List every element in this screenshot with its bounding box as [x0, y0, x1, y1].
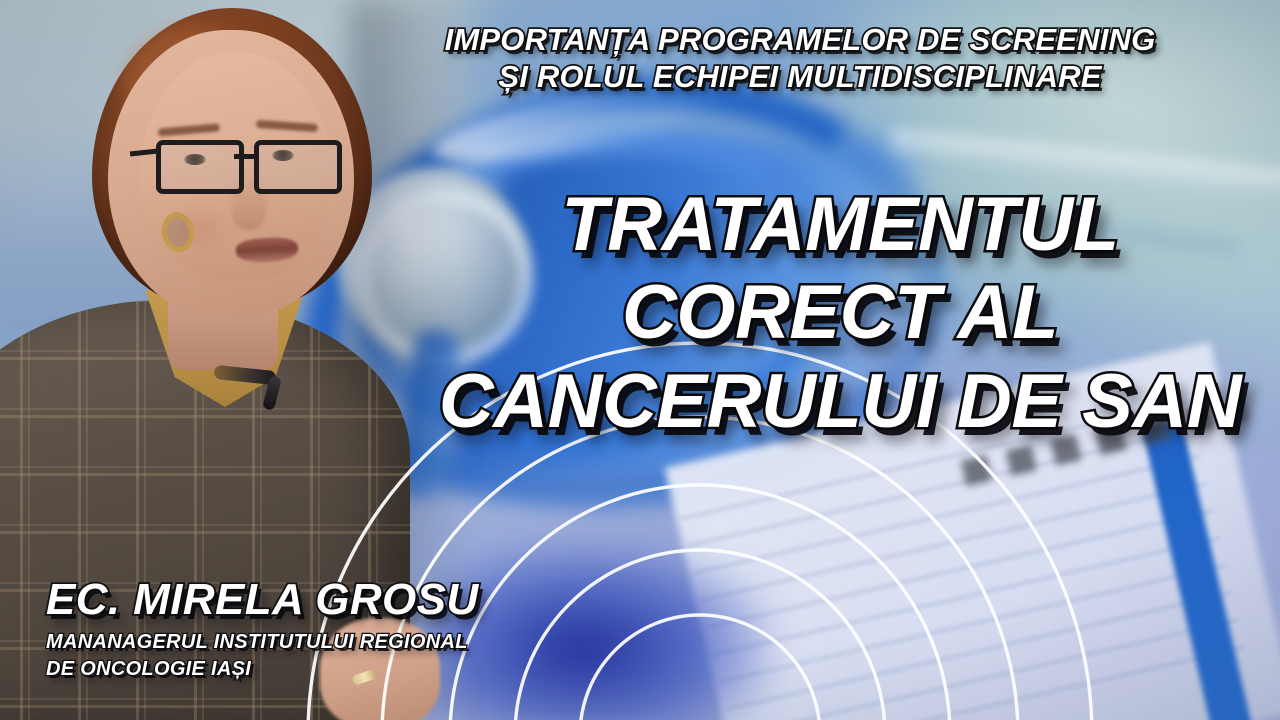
eyeglasses-lens-right — [254, 140, 342, 194]
speaker-role-line-1: MANANAGERUL INSTITUTULUI REGIONAL — [46, 630, 479, 655]
header-line-2: ȘI ROLUL ECHIPEI MULTIDISCIPLINARE — [340, 59, 1260, 96]
speaker-name: EC. MIRELA GROSU — [46, 578, 479, 622]
eyeglasses-icon — [150, 140, 346, 186]
header-kicker: IMPORTANȚA PROGRAMELOR DE SCREENING ȘI R… — [340, 22, 1260, 95]
title-card: IMPORTANȚA PROGRAMELOR DE SCREENING ȘI R… — [0, 0, 1280, 720]
header-line-1: IMPORTANȚA PROGRAMELOR DE SCREENING — [340, 22, 1260, 59]
title-line-2: CORECT AL — [420, 276, 1260, 350]
eyeglasses-bridge — [234, 154, 254, 159]
speaker-role-line-2: DE ONCOLOGIE IAȘI — [46, 657, 479, 682]
speaker-credit: EC. MIRELA GROSU MANANAGERUL INSTITUTULU… — [46, 578, 479, 682]
title-line-1: TRATAMENTUL — [420, 188, 1260, 262]
main-title: TRATAMENTUL CORECT AL CANCERULUI DE SAN — [420, 188, 1260, 439]
title-line-3: CANCERULUI DE SAN — [420, 365, 1260, 439]
eyeglasses-lens-left — [156, 140, 244, 194]
